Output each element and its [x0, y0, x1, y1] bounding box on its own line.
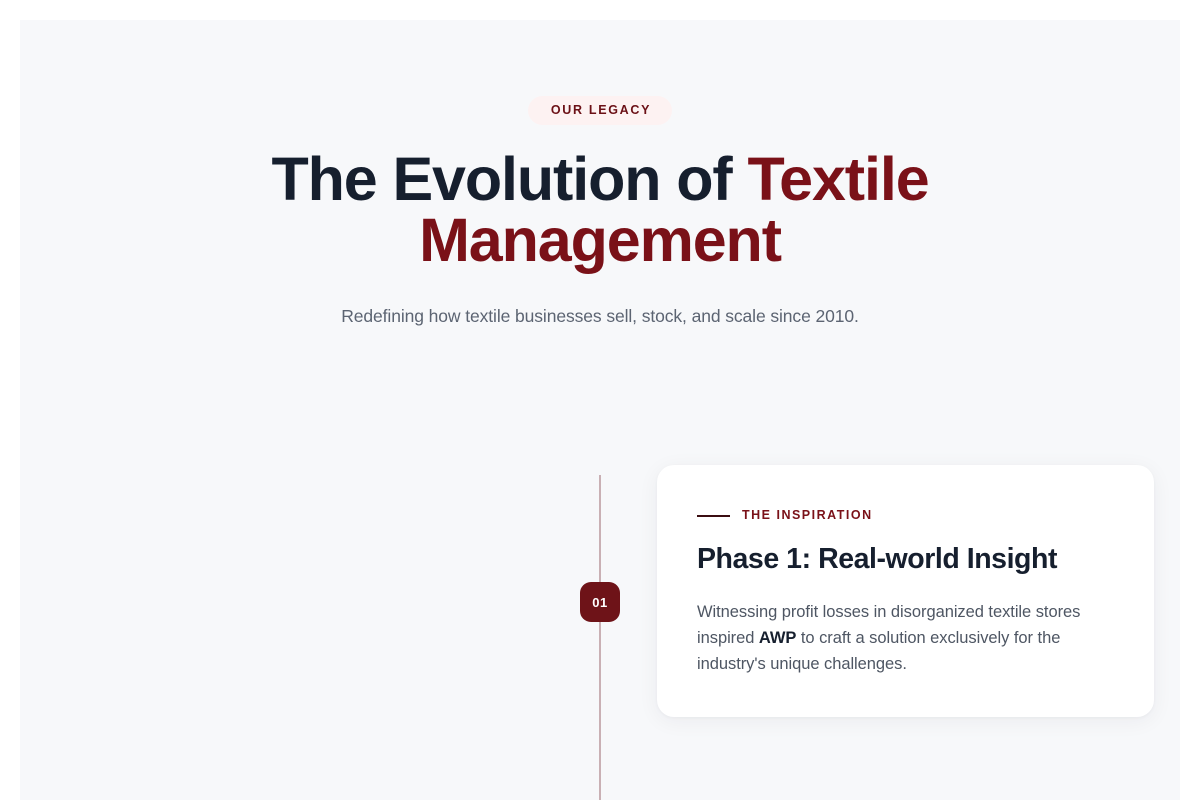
card-eyebrow: THE INSPIRATION	[697, 509, 1114, 522]
card-eyebrow-label: THE INSPIRATION	[742, 509, 873, 522]
card-body-brand: AWP	[759, 629, 796, 647]
timeline-section: 01 THE INSPIRATION Phase 1: Real-world I…	[20, 20, 1180, 800]
timeline-node-number: 01	[592, 595, 607, 610]
timeline-card-01[interactable]: THE INSPIRATION Phase 1: Real-world Insi…	[657, 465, 1154, 717]
card-body: Witnessing profit losses in disorganized…	[697, 599, 1114, 677]
page-frame: OUR LEGACY The Evolution of Textile Mana…	[20, 20, 1180, 800]
card-title: Phase 1: Real-world Insight	[697, 541, 1114, 577]
dash-rule-icon	[697, 515, 730, 517]
timeline-axis-line	[599, 475, 601, 800]
timeline-node-marker-01[interactable]: 01	[580, 582, 620, 622]
